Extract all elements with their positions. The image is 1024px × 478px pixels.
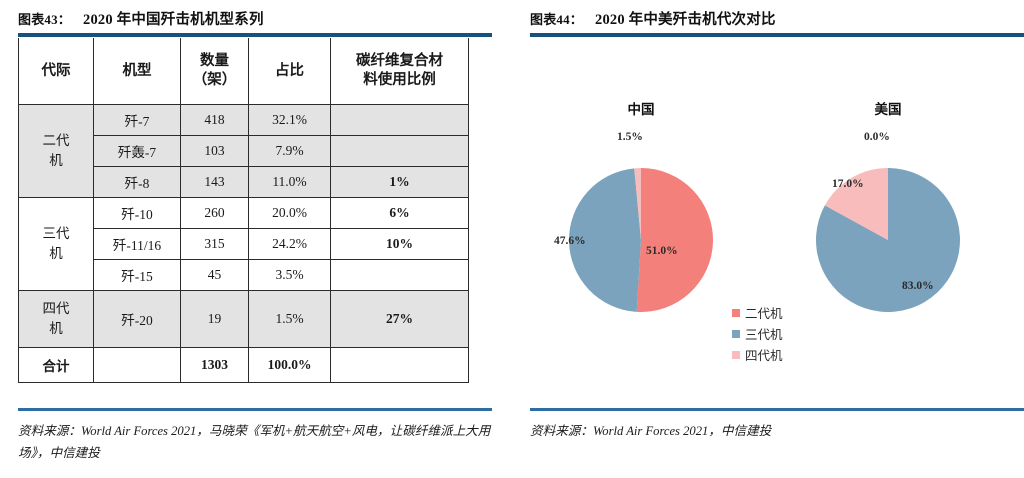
cell-generation: 二代 机 [19,105,94,198]
cell-carbon-fiber [331,105,469,136]
exhibit-44-caption-number: 图表44： [530,12,583,27]
cell-model: 歼-7 [94,105,181,136]
generation-line2: 机 [19,319,93,339]
exhibit-43-source: 资料来源：World Air Forces 2021，马晓荣《军机+航天航空+风… [18,420,496,464]
pie-slice-label-usa-2nd-gen: 0.0% [864,131,890,143]
cell-quantity: 315 [181,229,249,260]
table-row: 二代 机 歼-7 418 32.1% [19,105,469,136]
aircraft-table: 代际 机型 数量 （架） 占比 碳纤维复合材 料使用比例 [18,38,469,383]
table-total-row: 合计 1303 100.0% [19,348,469,383]
generation-line2: 机 [19,244,93,264]
table-row: 四代 机 歼-20 19 1.5% 27% [19,291,469,348]
pie-title-china: 中国 [581,98,701,118]
cell-quantity: 45 [181,260,249,291]
cell-share: 24.2% [249,229,331,260]
generation-line1: 三代 [19,224,93,244]
pie-slice [637,168,713,312]
cell-carbon-fiber: 1% [331,167,469,198]
cell-share: 7.9% [249,136,331,167]
exhibit-43-top-rule [18,33,492,37]
exhibit-43-caption-title: 2020 年中国歼击机机型系列 [83,12,264,28]
generation-line2: 机 [19,151,93,171]
cell-carbon-fiber: 10% [331,229,469,260]
cell-quantity: 143 [181,167,249,198]
cell-total-carbon-fiber [331,348,469,383]
cell-share: 3.5% [249,260,331,291]
header-cf-line2: 料使用比例 [334,71,465,90]
cell-model: 歼-20 [94,291,181,348]
generation-line1: 二代 [19,131,93,151]
exhibit-43-panel: 图表43：2020 年中国歼击机机型系列 代际 机型 数量 （架） 占比 碳纤维… [0,0,512,478]
generation-line1: 四代 [19,299,93,319]
cell-model: 歼-10 [94,198,181,229]
header-generation: 代际 [19,38,94,105]
header-share: 占比 [249,38,331,105]
exhibit-44-panel: 图表44：2020 年中美歼击机代次对比 中国 51.0% 47.6% 1.5%… [512,0,1024,478]
cell-share: 20.0% [249,198,331,229]
cell-share: 1.5% [249,291,331,348]
legend-label-2nd-gen: 二代机 [745,303,783,322]
pie-slice-label-usa-3rd-gen: 83.0% [902,280,934,292]
legend-swatch-3rd-gen [732,330,740,338]
pie-legend: 二代机 三代机 四代机 [732,302,852,365]
legend-swatch-4th-gen [732,351,740,359]
cell-model: 歼-11/16 [94,229,181,260]
cell-share: 11.0% [249,167,331,198]
cell-carbon-fiber [331,260,469,291]
pie-title-usa: 美国 [828,98,948,118]
table-row: 三代 机 歼-10 260 20.0% 6% [19,198,469,229]
cell-total-label: 合计 [19,348,94,383]
exhibit-43-caption-number: 图表43： [18,12,71,27]
cell-model: 歼-8 [94,167,181,198]
legend-item-3rd-gen[interactable]: 三代机 [732,323,852,344]
cell-quantity: 418 [181,105,249,136]
cell-quantity: 19 [181,291,249,348]
cell-quantity: 103 [181,136,249,167]
header-quantity-line2: （架） [184,71,245,90]
table-header-row: 代际 机型 数量 （架） 占比 碳纤维复合材 料使用比例 [19,38,469,105]
legend-swatch-2nd-gen [732,309,740,317]
legend-label-4th-gen: 四代机 [745,345,783,364]
header-carbon-fiber-ratio: 碳纤维复合材 料使用比例 [331,38,469,105]
exhibit-44-source: 资料来源：World Air Forces 2021，中信建投 [530,420,1008,442]
exhibit-44-bottom-rule [530,408,1024,411]
pie-slice-label-usa-4th-gen: 17.0% [832,178,864,190]
cell-total-model [94,348,181,383]
cell-total-share: 100.0% [249,348,331,383]
exhibit-44-caption: 图表44：2020 年中美歼击机代次对比 [530,8,776,29]
legend-item-4th-gen[interactable]: 四代机 [732,344,852,365]
cell-total-quantity: 1303 [181,348,249,383]
pie-slice-label-china-3rd-gen: 47.6% [554,235,586,247]
cell-carbon-fiber [331,136,469,167]
pie-slice-label-china-4th-gen: 1.5% [617,131,643,143]
exhibit-43-caption: 图表43：2020 年中国歼击机机型系列 [18,8,264,29]
pie-chart-area: 中国 51.0% 47.6% 1.5% 美国 0.0% 83.0% 17.0% … [512,40,1024,405]
cell-carbon-fiber: 6% [331,198,469,229]
header-quantity-line1: 数量 [184,52,245,71]
exhibit-43-bottom-rule [18,408,492,411]
header-quantity: 数量 （架） [181,38,249,105]
exhibit-44-caption-title: 2020 年中美歼击机代次对比 [595,12,776,28]
cell-model: 歼轰-7 [94,136,181,167]
cell-quantity: 260 [181,198,249,229]
cell-share: 32.1% [249,105,331,136]
header-model: 机型 [94,38,181,105]
aircraft-table-wrapper: 代际 机型 数量 （架） 占比 碳纤维复合材 料使用比例 [18,38,468,383]
cell-model: 歼-15 [94,260,181,291]
legend-item-2nd-gen[interactable]: 二代机 [732,302,852,323]
cell-carbon-fiber: 27% [331,291,469,348]
legend-label-3rd-gen: 三代机 [745,324,783,343]
cell-generation: 四代 机 [19,291,94,348]
header-cf-line1: 碳纤维复合材 [334,52,465,71]
pie-slice-label-china-2nd-gen: 51.0% [646,245,678,257]
cell-generation: 三代 机 [19,198,94,291]
exhibit-44-top-rule [530,33,1024,37]
